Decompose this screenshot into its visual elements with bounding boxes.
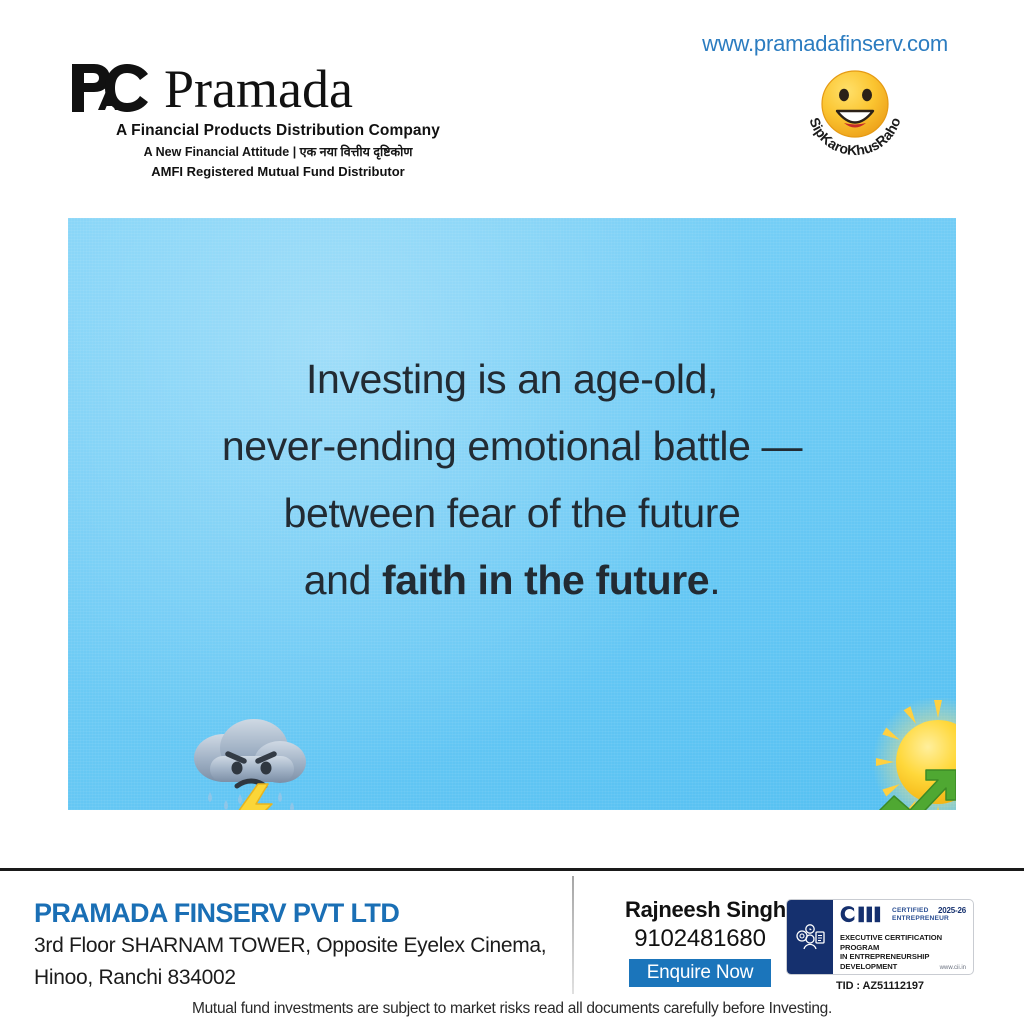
quote-line-2: never-ending emotional battle — xyxy=(68,413,956,480)
mutual-fund-disclaimer: Mutual fund investments are subject to m… xyxy=(0,1000,1024,1018)
contact-phone-number[interactable]: 9102481680 xyxy=(625,925,775,953)
cii-badge-icon-panel xyxy=(787,900,833,974)
company-address-line-2: Hinoo, Ranchi 834002 xyxy=(34,966,236,990)
brand-tagline-bilingual: A New Financial Attitude | एक नया वित्ती… xyxy=(68,143,488,160)
quote-line-4-prefix: and xyxy=(304,557,382,603)
brand-logo-block: Pramada A Financial Products Distributio… xyxy=(68,58,488,179)
cii-certification-badge: CERTIFIED ENTREPRENEUR 2025-26 EXECUTIVE… xyxy=(786,899,974,975)
quote-line-4: and faith in the future. xyxy=(68,547,956,614)
brand-tagline-primary: A Financial Products Distribution Compan… xyxy=(68,122,488,140)
header: Pramada A Financial Products Distributio… xyxy=(0,0,1024,180)
quote-line-4-suffix: . xyxy=(709,557,720,603)
contact-person-name: Rajneesh Singh xyxy=(625,897,775,923)
enquire-now-button[interactable]: Enquire Now xyxy=(629,959,771,987)
quote-line-4-emphasis: faith in the future xyxy=(382,557,709,603)
quote-card: Investing is an age-old, never-ending em… xyxy=(68,218,956,810)
cii-certified-line-2: ENTREPRENEUR xyxy=(892,915,949,923)
storm-cloud-with-lightning-icon xyxy=(180,700,320,810)
cii-tid-number: TID : AZ51112197 xyxy=(786,980,974,992)
poster-canvas: Pramada A Financial Products Distributio… xyxy=(0,0,1024,1024)
footer-vertical-divider xyxy=(572,876,574,994)
company-address-line-1: 3rd Floor SHARNAM TOWER, Opposite Eyelex… xyxy=(34,934,546,958)
cii-badge-content: CERTIFIED ENTREPRENEUR 2025-26 EXECUTIVE… xyxy=(833,900,973,974)
cii-logo-icon xyxy=(840,905,886,924)
quote-line-1: Investing is an age-old, xyxy=(68,346,956,413)
lightning-bolt-icon xyxy=(238,784,272,810)
cii-website: www.cii.in xyxy=(940,965,966,971)
cii-year: 2025-26 xyxy=(938,906,966,915)
brand-wordmark: Pramada xyxy=(164,60,353,118)
pac-monogram-icon xyxy=(68,60,154,118)
quote-text: Investing is an age-old, never-ending em… xyxy=(68,346,956,614)
website-url[interactable]: www.pramadafinserv.com xyxy=(702,31,948,57)
footer-divider xyxy=(0,868,1024,871)
cii-program-line-1: EXECUTIVE CERTIFICATION PROGRAM xyxy=(840,933,967,952)
company-name: PRAMADA FINSERV PVT LTD xyxy=(34,898,399,929)
entrepreneur-people-icon xyxy=(793,920,827,954)
brand-row: Pramada xyxy=(68,58,488,120)
sip-karo-khush-raho-badge: SipKaroKhusRaho xyxy=(790,62,920,162)
brand-tagline-amfi: AMFI Registered Mutual Fund Distributor xyxy=(68,164,488,179)
cloud-body xyxy=(194,719,306,783)
sun-with-growth-arrow-icon xyxy=(860,698,956,810)
quote-line-3: between fear of the future xyxy=(68,480,956,547)
